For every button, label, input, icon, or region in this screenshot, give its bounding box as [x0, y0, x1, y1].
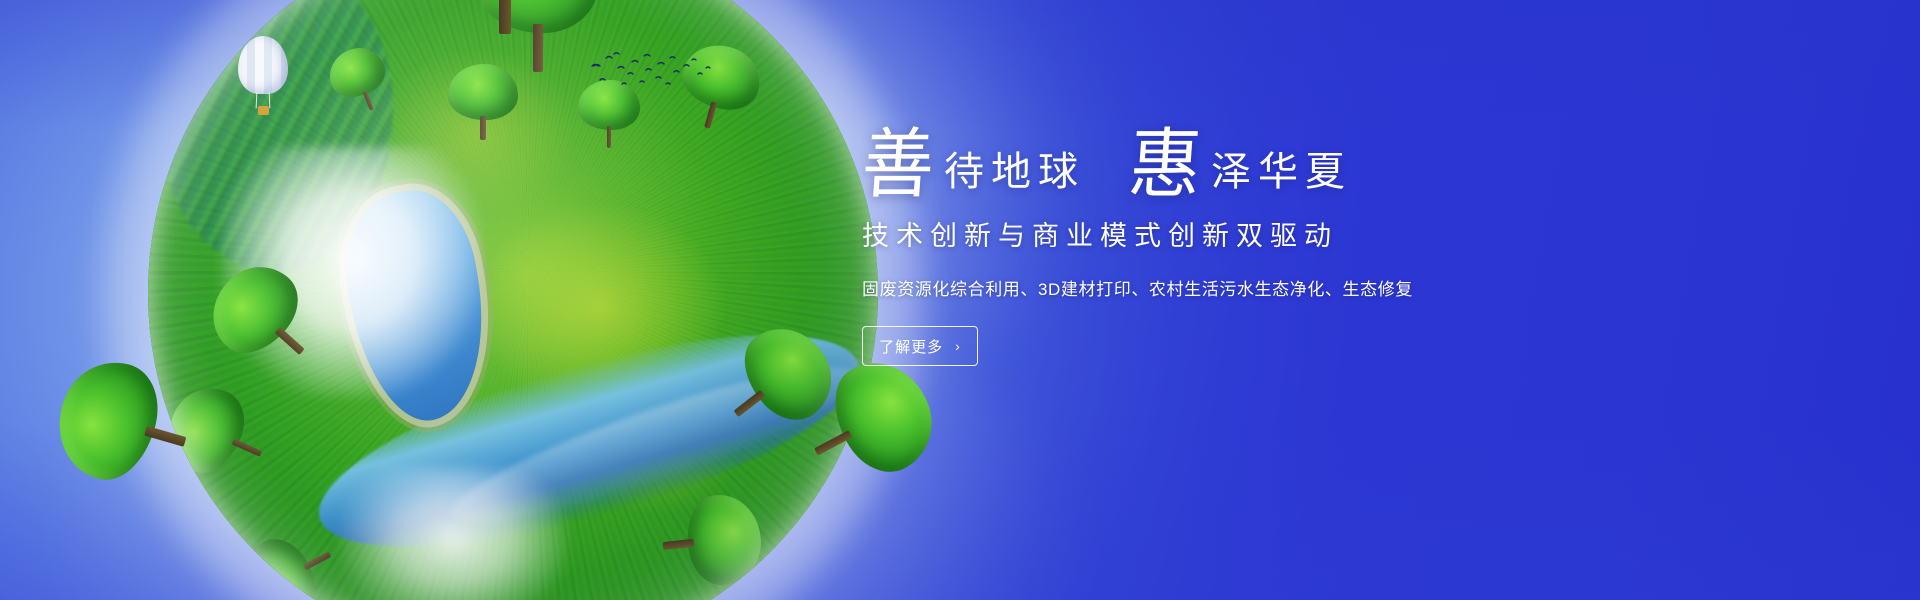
- banner-content: 善 待地球 惠 泽华夏 技术创新与商业模式创新双驱动 固废资源化综合利用、3D建…: [862, 132, 1562, 366]
- bird-flock-svg: [588, 48, 718, 94]
- tree-trunk: [144, 426, 186, 446]
- hero-banner: 善 待地球 惠 泽华夏 技术创新与商业模式创新双驱动 固废资源化综合利用、3D建…: [0, 0, 1920, 600]
- balloon-envelope: [238, 36, 288, 94]
- learn-more-label: 了解更多: [879, 336, 943, 357]
- banner-description: 固废资源化综合利用、3D建材打印、农村生活污水生态净化、生态修复: [862, 275, 1562, 300]
- chevron-right-icon: ›: [955, 338, 961, 354]
- headline-phrase2-rest: 泽华夏: [1211, 152, 1352, 198]
- hot-air-balloon-icon: [238, 36, 292, 128]
- bird-flock-icon: [588, 48, 718, 94]
- banner-subtitle: 技术创新与商业模式创新双驱动: [862, 214, 1562, 253]
- tree-trunk: [499, 0, 511, 34]
- headline: 善 待地球 惠 泽华夏: [862, 132, 1562, 198]
- headline-phrase2-big: 惠: [1127, 130, 1204, 200]
- headline-phrase1-rest: 待地球: [944, 152, 1085, 198]
- tree-icon: [430, 0, 580, 34]
- learn-more-button[interactable]: 了解更多 ›: [862, 326, 978, 366]
- headline-phrase1-big: 善: [860, 130, 937, 200]
- balloon-basket: [258, 106, 269, 115]
